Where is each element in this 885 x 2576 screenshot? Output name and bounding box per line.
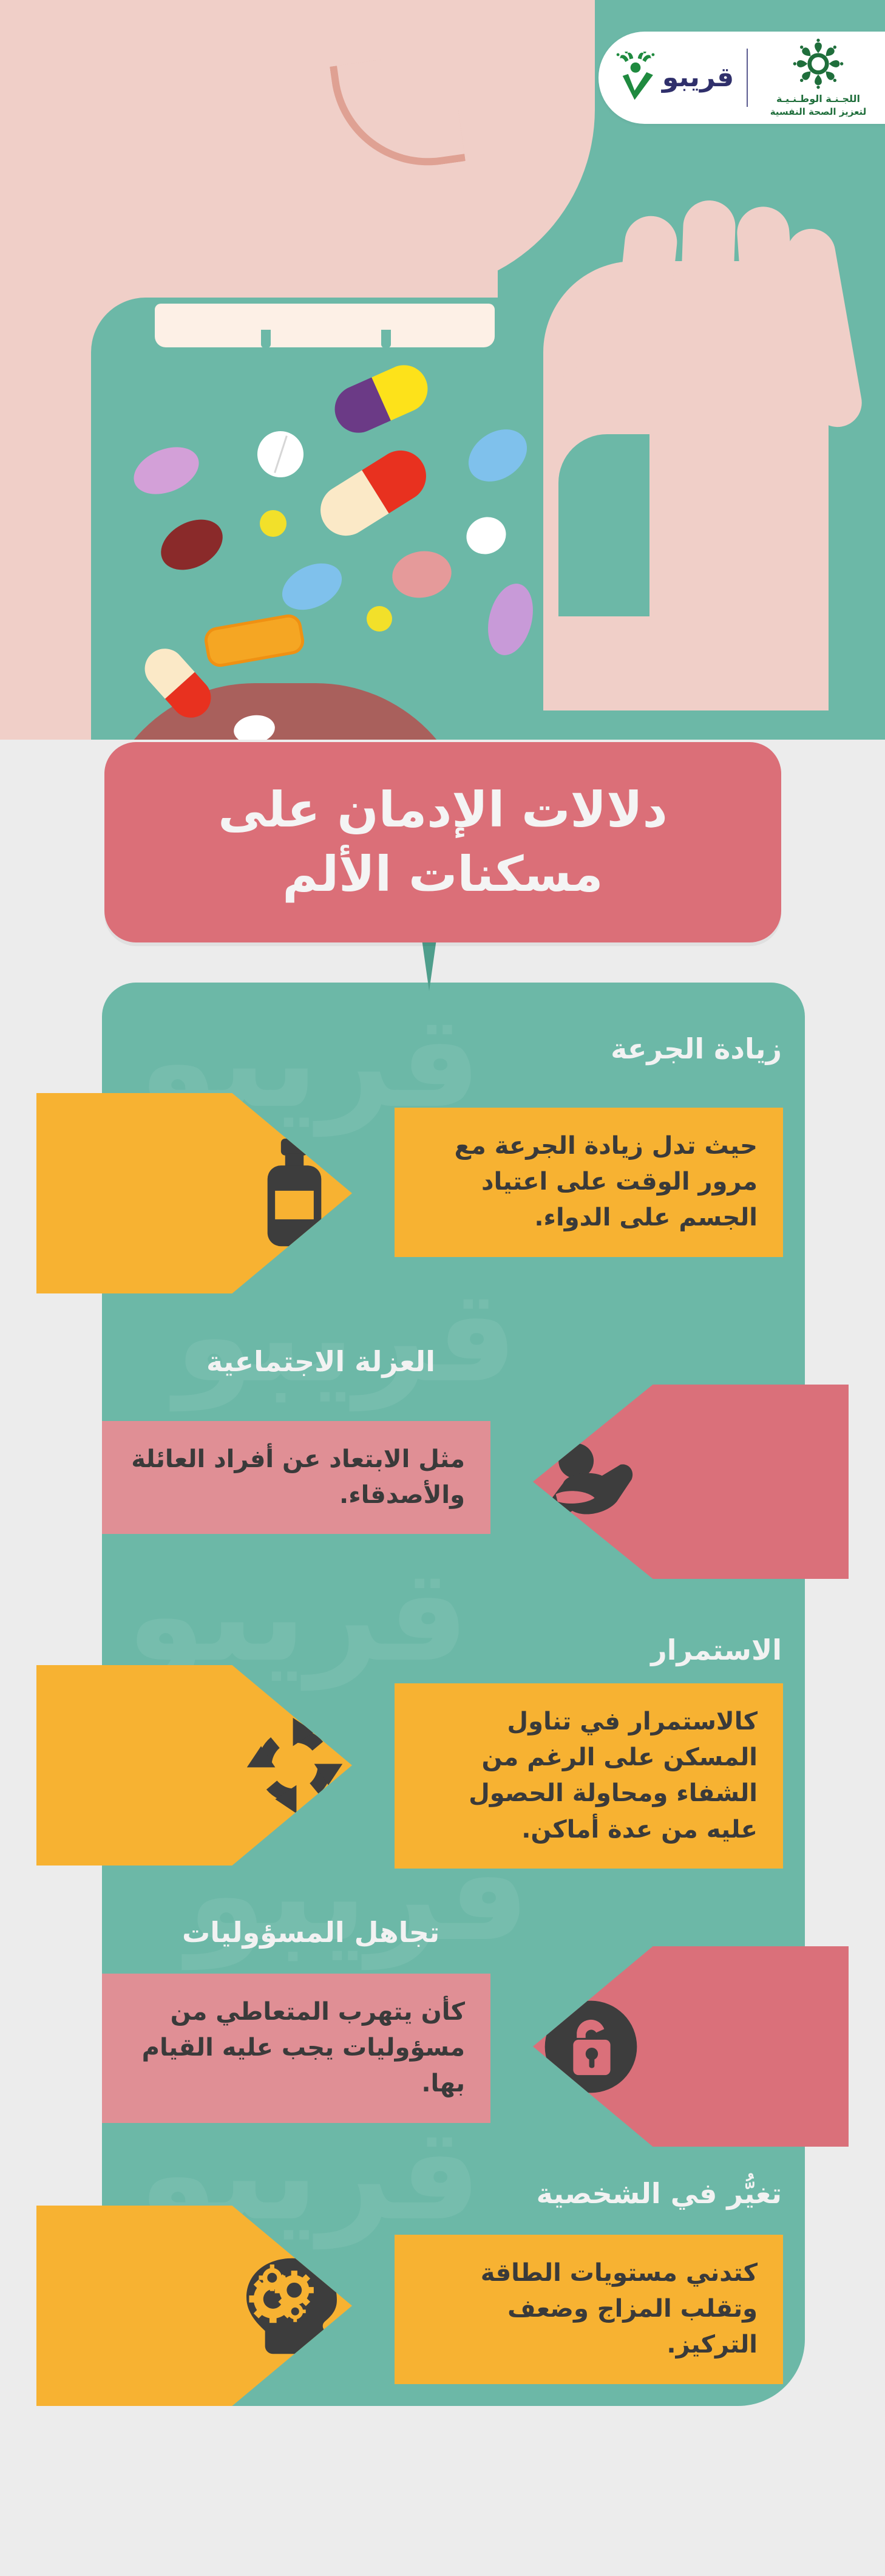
- nca-logo: اللجـنـة الوطـنـيـة لتعزيز الصحة النفسية: [758, 38, 879, 117]
- section-5-heading: تغيُّر في الشخصية: [537, 2177, 782, 2210]
- section-1-heading: زيادة الجرعة: [611, 1032, 782, 1065]
- qaribo-logo: قريبو: [609, 52, 737, 104]
- page-title-line2: مسكنات الألم: [218, 842, 667, 907]
- section-4-body: كأن يتهرب المتعاطي من مسؤوليات يجب عليه …: [127, 1994, 465, 2102]
- section-3-heading: الاستمرار: [651, 1634, 782, 1666]
- pill-tablet-yellow-small-2: [367, 606, 392, 632]
- qaribo-person-check-icon: [612, 52, 659, 104]
- section-4-heading: تجاهل المسؤوليات: [182, 1916, 439, 1949]
- section-2-body: مثل الابتعاد عن أفراد العائلة والأصدقاء.: [127, 1442, 465, 1513]
- page-title-line1: دلالات الإدمان على: [218, 778, 667, 842]
- section-1-text-card: حيث تدل زيادة الجرعة مع مرور الوقت على ا…: [395, 1108, 783, 1257]
- palm-negative-space: [558, 434, 649, 616]
- logo-card: اللجـنـة الوطـنـيـة لتعزيز الصحة النفسية…: [598, 32, 885, 124]
- section-5-body: كتدني مستويات الطاقة وتقلب المزاج وضعف ا…: [420, 2255, 758, 2363]
- teeth-gap: [381, 330, 391, 348]
- upper-teeth: [155, 304, 495, 347]
- section-2-text-card: مثل الابتعاد عن أفراد العائلة والأصدقاء.: [102, 1421, 490, 1534]
- nca-name-line2: لتعزيز الصحة النفسية: [770, 106, 867, 117]
- nca-name-line1: اللجـنـة الوطـنـيـة: [776, 93, 860, 104]
- pill-tablet-yellow-small: [260, 510, 287, 537]
- finger: [676, 200, 736, 445]
- page-title-text: دلالات الإدمان على مسكنات الألم: [218, 778, 667, 906]
- section-1-body: حيث تدل زيادة الجرعة مع مرور الوقت على ا…: [420, 1128, 758, 1236]
- section-4-text-card: كأن يتهرب المتعاطي من مسؤوليات يجب عليه …: [102, 1974, 490, 2123]
- section-3-text-card: كالاستمرار في تناول المسكن على الرغم من …: [395, 1683, 783, 1869]
- page-title: دلالات الإدمان على مسكنات الألم: [104, 742, 781, 942]
- section-2-heading: العزلة الاجتماعية: [206, 1345, 435, 1378]
- logo-divider: [747, 49, 748, 107]
- qaribo-wordmark: قريبو: [662, 64, 734, 91]
- section-5-text-card: كتدني مستويات الطاقة وتقلب المزاج وضعف ا…: [395, 2235, 783, 2384]
- section-3-body: كالاستمرار في تناول المسكن على الرغم من …: [420, 1704, 758, 1848]
- teeth-gap: [261, 330, 271, 348]
- nca-burst-icon: [793, 38, 844, 89]
